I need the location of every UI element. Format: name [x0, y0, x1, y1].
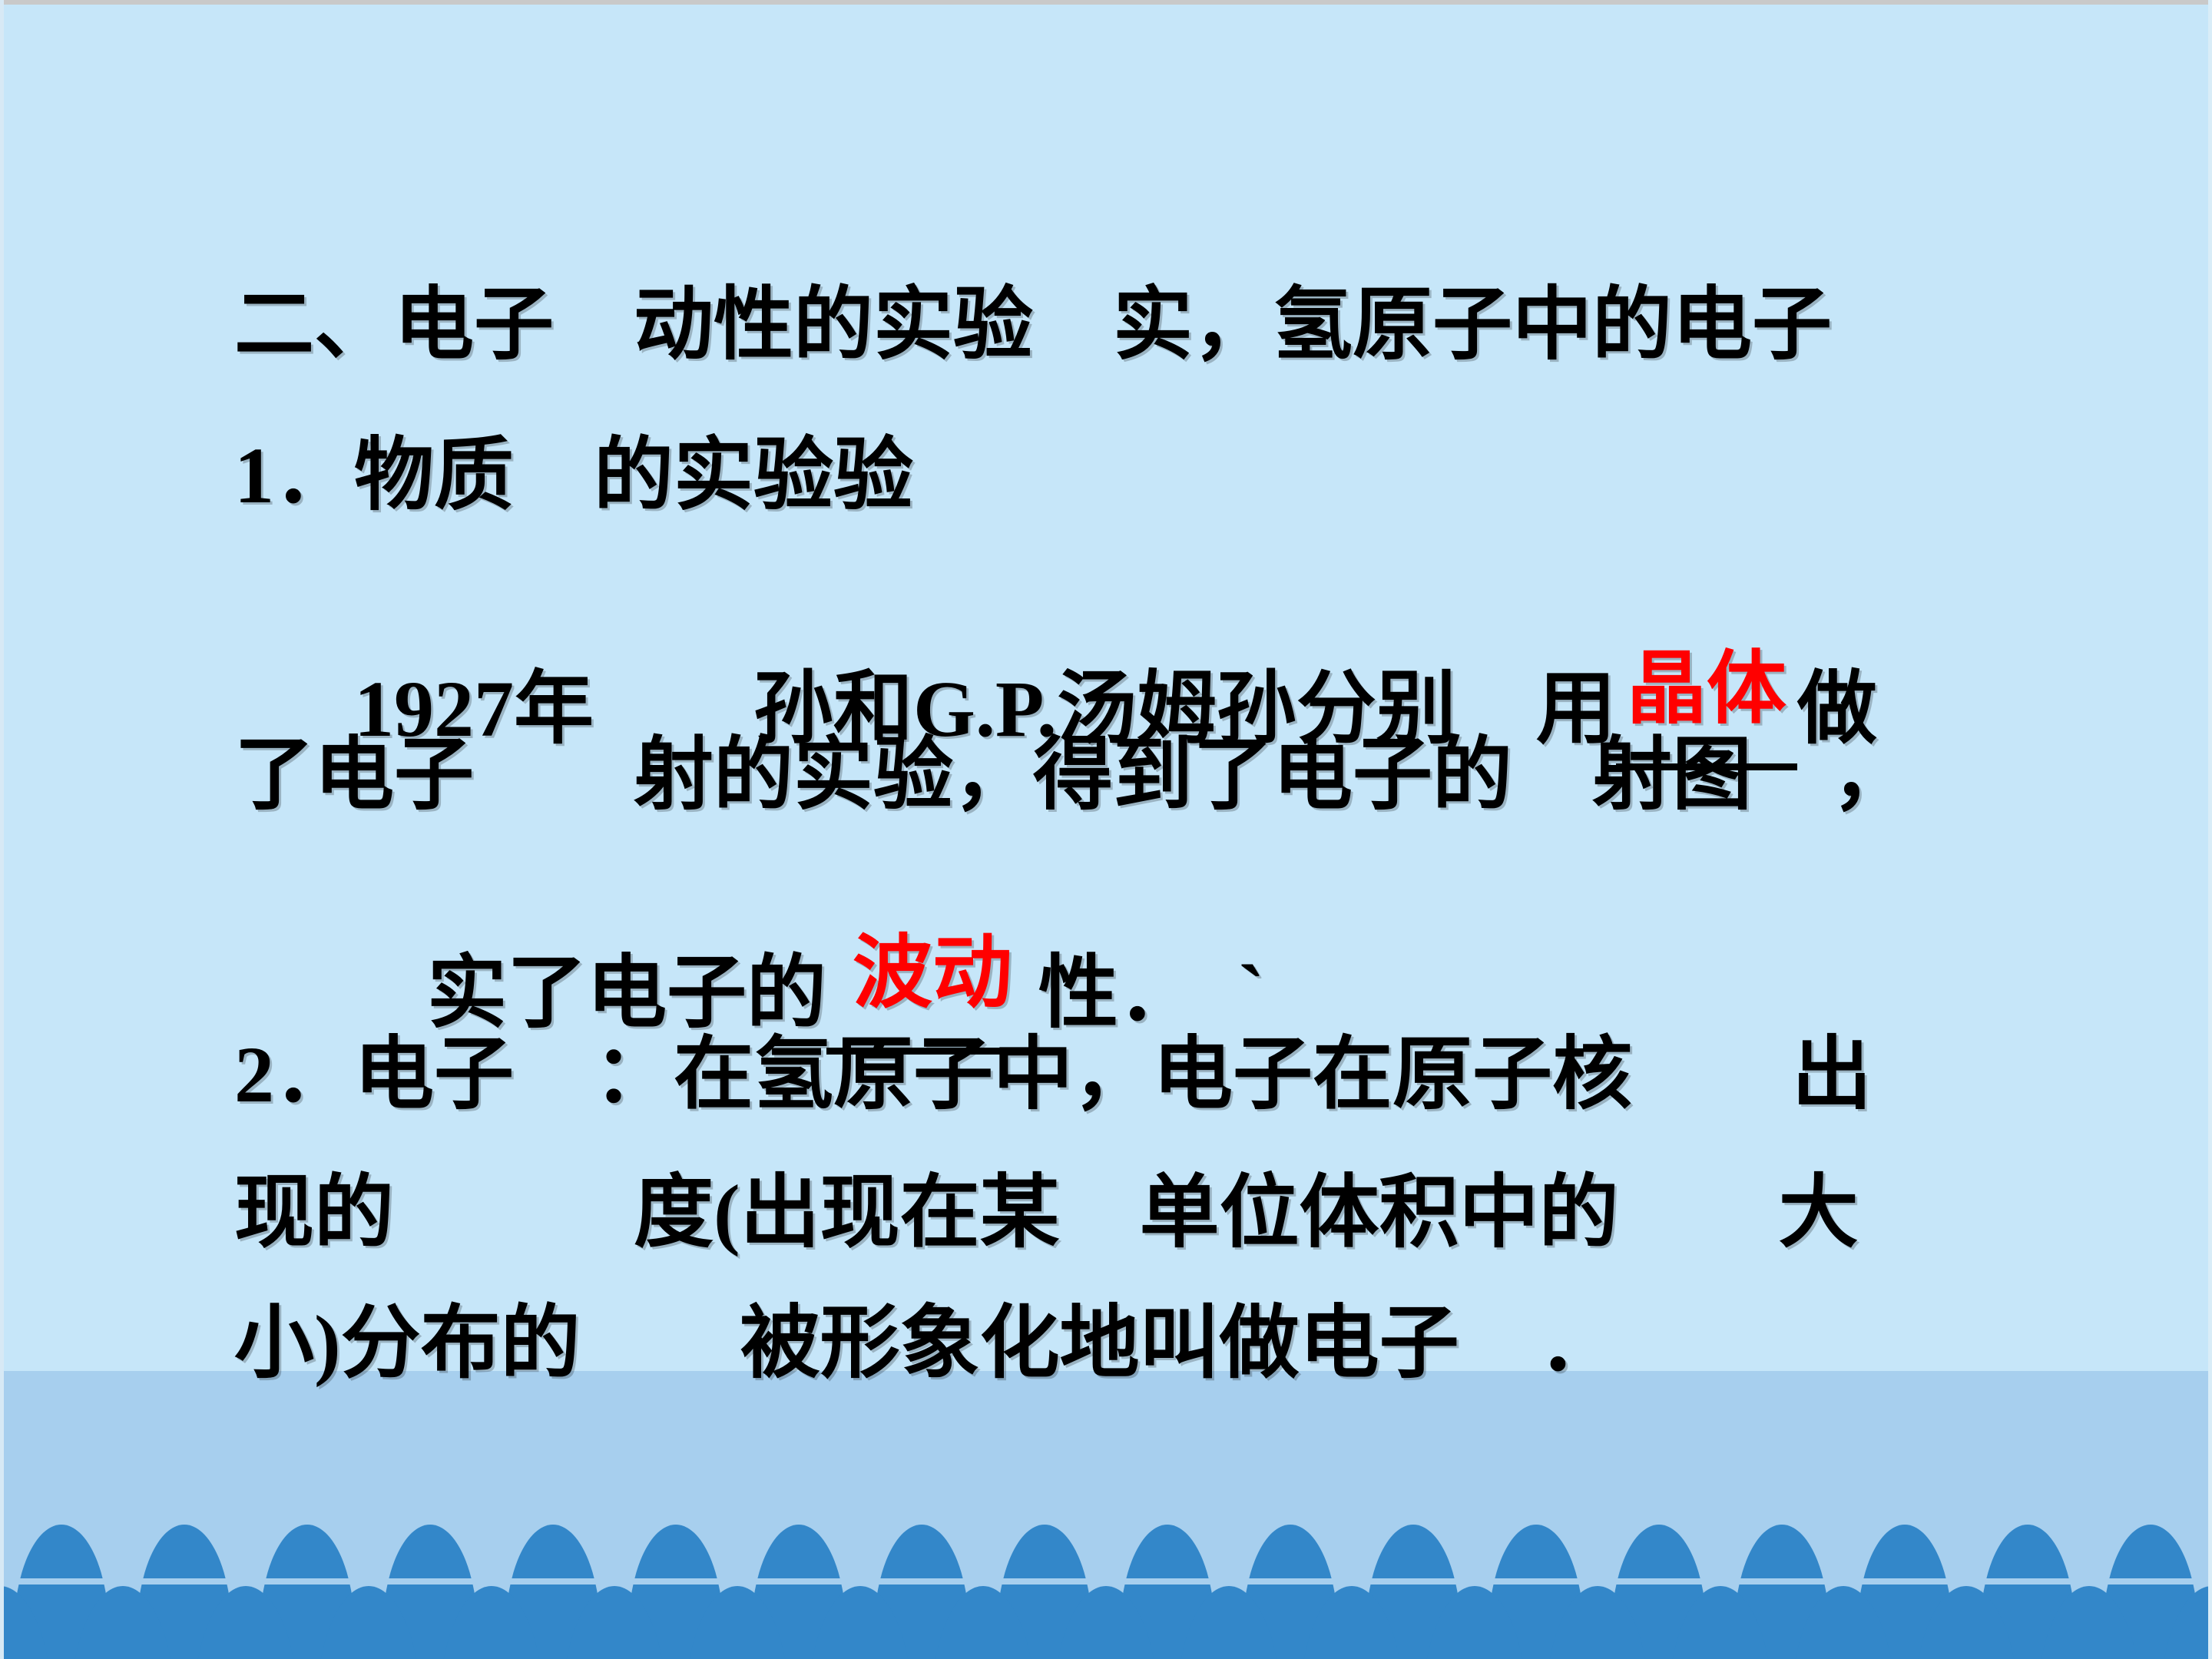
paragraph-line-density: 现的 度(出现在某 单位体积中的 大	[234, 1174, 1859, 1253]
wave-text-before-blank: 实了电子的	[427, 949, 826, 1038]
wave-text-after-blank: 性． `	[1038, 949, 1265, 1038]
slide-canvas: 二、电子 动性的实验 实，氢原子中的电子 1．物质 的实验验 1927年 孙和G…	[0, 0, 2212, 1659]
slide-text-content: 二、电子 动性的实验 实，氢原子中的电子 1．物质 的实验验 1927年 孙和G…	[0, 0, 2212, 1659]
paragraph-line-diffraction: 了电子 射的实验，得到了电子的 射图 ，	[234, 736, 1912, 816]
paragraph-line-electron-cloud: 小)分布的 被形象化地叫做电子 ．	[234, 1304, 1619, 1384]
heading-line-2: 二、电子 动性的实验 实，氢原子中的电子	[234, 286, 1832, 366]
subheading-line-1: 1．物质 的实验验	[234, 436, 913, 516]
fill-in-blank-1-answer: 晶体	[1627, 650, 1786, 730]
slide-right-edge	[2208, 0, 2212, 1659]
slide-top-edge	[0, 0, 2212, 5]
fill-in-blank-2-answer: 波动	[853, 934, 1012, 1014]
paragraph-line-item2: 2．电子 ：在氢原子中，电子在原子核 出	[234, 1035, 1872, 1115]
slide-left-edge	[0, 0, 4, 1659]
